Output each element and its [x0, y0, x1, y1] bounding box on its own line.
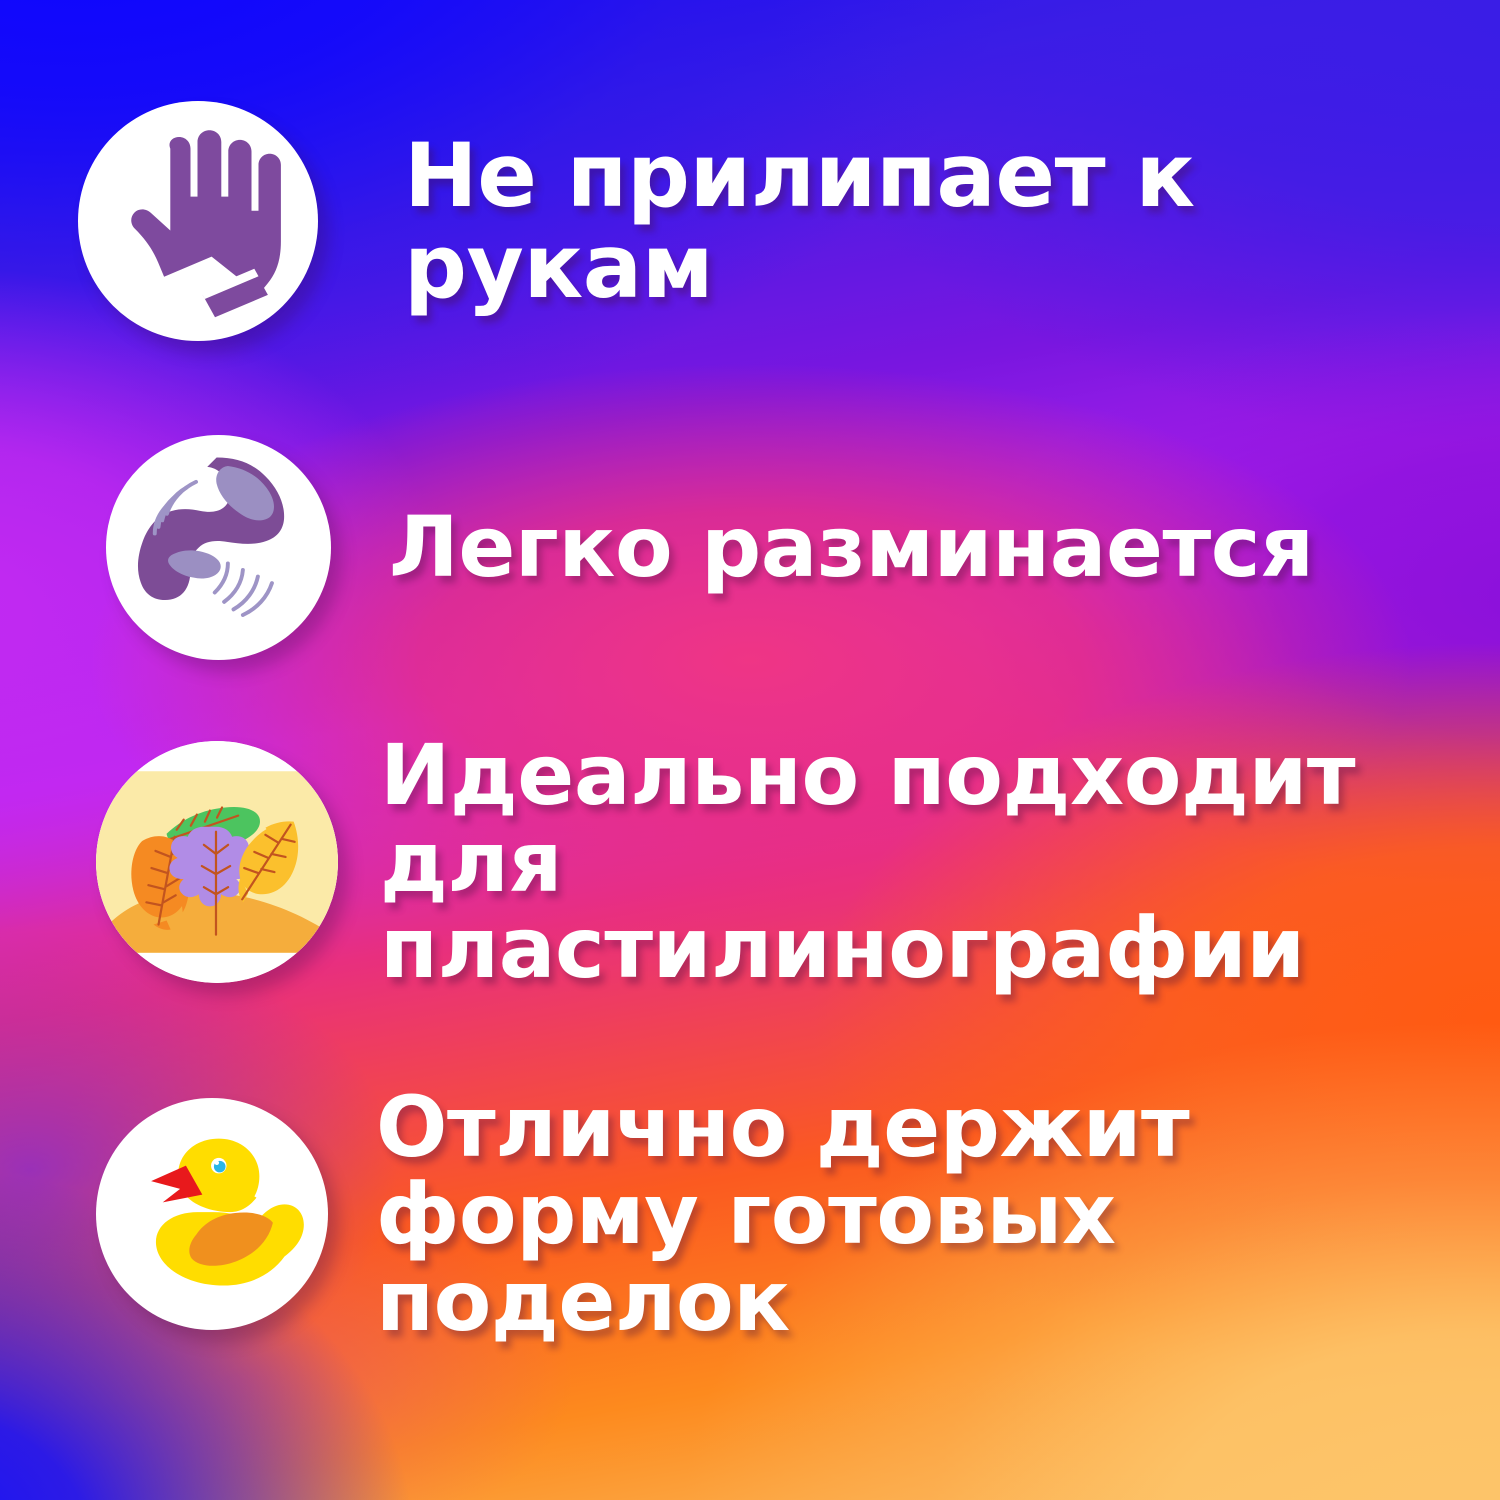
feature-label: Отлично держит форму готовых поделок — [376, 1084, 1189, 1345]
feature-row: Идеально подходит для пластилинографии — [0, 738, 1500, 986]
feature-row: Не прилипает к рукам — [0, 96, 1500, 346]
autumn-leaves-icon — [96, 741, 338, 983]
feature-label: Идеально подходит для пластилинографии — [380, 732, 1500, 993]
promo-poster: Не прилипает к рукам — [0, 0, 1500, 1500]
rubber-duck-icon — [96, 1098, 328, 1330]
kneaded-clay-icon — [106, 435, 331, 660]
feature-row: Легко разминается — [0, 432, 1500, 662]
feature-label: Не прилипает к рукам — [404, 130, 1500, 312]
feature-row: Отлично держит форму готовых поделок — [0, 1090, 1500, 1420]
feature-label: Легко разминается — [389, 504, 1314, 591]
feature-list: Не прилипает к рукам — [0, 0, 1500, 1500]
open-hand-icon — [78, 101, 318, 341]
